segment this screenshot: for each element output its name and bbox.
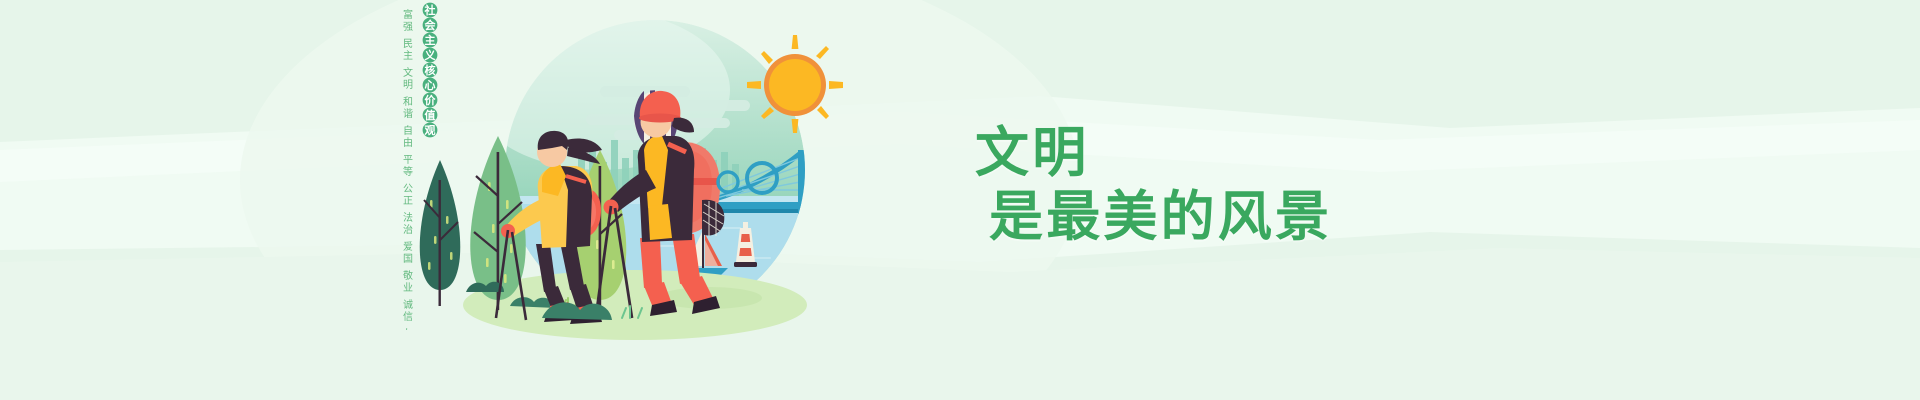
svg-text:爱: 爱 (403, 240, 413, 253)
headline: 文明 是最美的风景 (975, 122, 1332, 249)
svg-text:主: 主 (403, 50, 413, 62)
headline-line-2: 是最美的风景 (989, 186, 1332, 250)
svg-text:观: 观 (425, 124, 436, 137)
hikers-illustration (410, 0, 910, 400)
background-waves (0, 0, 1920, 400)
svg-text:主: 主 (425, 33, 436, 47)
svg-text:明: 明 (403, 79, 413, 91)
svg-text:治: 治 (403, 223, 413, 236)
svg-text:由: 由 (403, 136, 413, 149)
svg-text:自: 自 (403, 124, 413, 137)
svg-text:和: 和 (403, 96, 413, 108)
svg-text:平: 平 (403, 155, 413, 166)
svg-text:富: 富 (403, 8, 413, 21)
svg-text:心: 心 (425, 79, 436, 92)
svg-text:价: 价 (425, 94, 437, 107)
svg-text:民: 民 (403, 38, 413, 50)
svg-text:诚: 诚 (403, 299, 413, 311)
headline-line-1: 文明 (975, 122, 1332, 186)
svg-text:法: 法 (403, 211, 413, 224)
svg-text:核: 核 (425, 63, 436, 77)
svg-text:等: 等 (403, 165, 413, 178)
svg-text:会: 会 (425, 18, 437, 32)
svg-text:文: 文 (403, 66, 413, 79)
svg-text:社: 社 (424, 3, 436, 17)
svg-text:友: 友 (403, 327, 413, 330)
banner-root: .badgechar{font-family:"Liberation Sans"… (0, 0, 1920, 400)
core-values-title-badges: 社 会 主 义 核 心 价 值 观 (423, 3, 438, 138)
svg-text:值: 值 (425, 108, 436, 122)
svg-text:谐: 谐 (403, 108, 413, 120)
svg-text:信: 信 (403, 311, 413, 323)
core-values-column: .badgechar{font-family:"Liberation Sans"… (388, 0, 448, 330)
svg-text:强: 强 (403, 21, 413, 33)
svg-text:义: 义 (425, 48, 437, 62)
svg-text:公: 公 (403, 184, 413, 195)
svg-text:业: 业 (403, 282, 413, 294)
svg-text:正: 正 (403, 196, 413, 207)
svg-text:国: 国 (403, 253, 413, 265)
core-values-twelve: 富 强 民 主 文 明 和 谐 自 由 平 等 公 正 法 治 爱 国 敬 业 … (403, 8, 413, 330)
svg-text:敬: 敬 (403, 269, 413, 282)
